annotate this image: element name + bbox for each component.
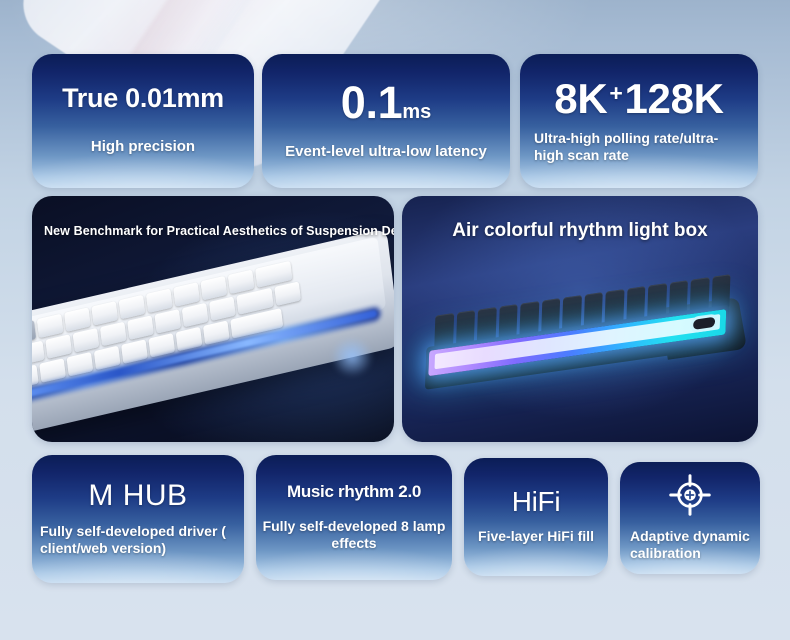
polling-rate-value: 8K: [554, 75, 607, 122]
mhub-headline: M HUB: [40, 481, 236, 511]
latency-subline: Event-level ultra-low latency: [285, 143, 487, 162]
panel-suspension-design[interactable]: New Benchmark for Practical Aesthetics o…: [32, 196, 394, 442]
product-feature-poster: True 0.01mm High precision 0.1ms Event-l…: [0, 0, 790, 640]
feature-card-hifi[interactable]: HiFi Five-layer HiFi fill: [464, 458, 608, 576]
polling-headline-group: 8K+128K: [534, 78, 744, 120]
latency-value: 0.1: [341, 77, 403, 128]
black-keyboard-rgb-image: [424, 274, 735, 429]
precision-subline: High precision: [91, 138, 195, 157]
lightbox-panel-title: Air colorful rhythm light box: [402, 220, 758, 242]
scan-rate-value: 128K: [625, 75, 724, 122]
plus-sign-icon: +: [609, 80, 622, 106]
mhub-subline: Fully self-developed driver ( client/web…: [40, 523, 236, 558]
feature-card-polling-rate[interactable]: 8K+128K Ultra-high polling rate/ultra-hi…: [520, 54, 758, 188]
hifi-subline: Five-layer HiFi fill: [478, 528, 594, 545]
calibration-subline: Adaptive dynamic calibration: [630, 528, 750, 563]
latency-unit: ms: [402, 101, 431, 123]
light-beam: [322, 328, 382, 386]
panel-rhythm-light-box[interactable]: Air colorful rhythm light box: [402, 196, 758, 442]
suspension-panel-title: New Benchmark for Practical Aesthetics o…: [44, 224, 384, 238]
feature-card-m-hub[interactable]: M HUB Fully self-developed driver ( clie…: [32, 455, 244, 583]
precision-headline: True 0.01mm: [62, 85, 224, 112]
latency-headline-group: 0.1ms: [341, 80, 432, 125]
feature-card-adaptive-calibration[interactable]: Adaptive dynamic calibration: [620, 462, 760, 574]
music-subline: Fully self-developed 8 lamp effects: [256, 518, 452, 553]
music-headline: Music rhythm 2.0: [287, 483, 421, 500]
feature-card-latency[interactable]: 0.1ms Event-level ultra-low latency: [262, 54, 510, 188]
hifi-headline: HiFi: [512, 488, 561, 516]
crosshair-target-icon: [630, 474, 750, 516]
feature-card-precision[interactable]: True 0.01mm High precision: [32, 54, 254, 188]
polling-subline: Ultra-high polling rate/ultra-high scan …: [534, 130, 744, 165]
feature-card-music-rhythm[interactable]: Music rhythm 2.0 Fully self-developed 8 …: [256, 455, 452, 580]
